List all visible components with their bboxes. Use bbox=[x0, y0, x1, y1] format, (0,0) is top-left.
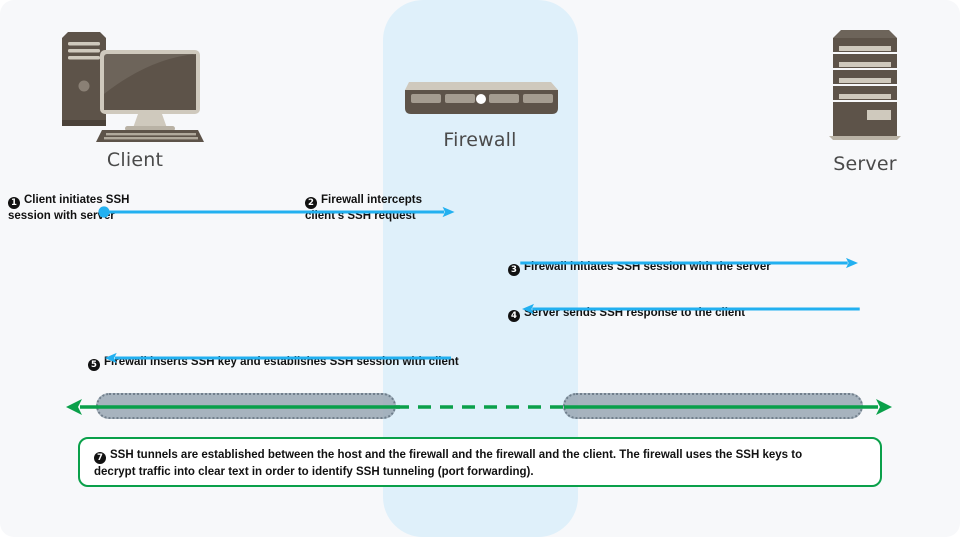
arrow-step-3 bbox=[490, 257, 890, 269]
arrow-step-4 bbox=[490, 303, 890, 315]
note-bullet: 7 bbox=[94, 452, 106, 464]
tunnel-arrows bbox=[60, 398, 900, 416]
node-server-label: Server bbox=[795, 153, 935, 175]
note-line-1-label: SSH tunnels are established between the … bbox=[110, 449, 802, 461]
node-client-label: Client bbox=[40, 149, 230, 171]
node-server[interactable]: Server bbox=[795, 20, 935, 175]
node-client[interactable]: Client bbox=[40, 24, 230, 171]
firewall-appliance-icon bbox=[385, 78, 575, 124]
arrow-step-1-2 bbox=[68, 206, 488, 218]
step-1-bullet: 1 bbox=[8, 197, 20, 209]
desktop-computer-icon bbox=[40, 24, 230, 144]
arrow-step-5 bbox=[72, 352, 482, 364]
node-firewall-label: Firewall bbox=[385, 129, 575, 151]
server-tower-icon bbox=[795, 20, 935, 148]
note-line-2-label: decrypt traffic into clear text in order… bbox=[94, 464, 866, 480]
note-line-1: 7SSH tunnels are established between the… bbox=[94, 447, 866, 464]
diagram-canvas: Client Firewall Ser bbox=[0, 0, 960, 537]
node-firewall[interactable]: Firewall bbox=[385, 78, 575, 151]
note-box: 7SSH tunnels are established between the… bbox=[78, 437, 882, 487]
